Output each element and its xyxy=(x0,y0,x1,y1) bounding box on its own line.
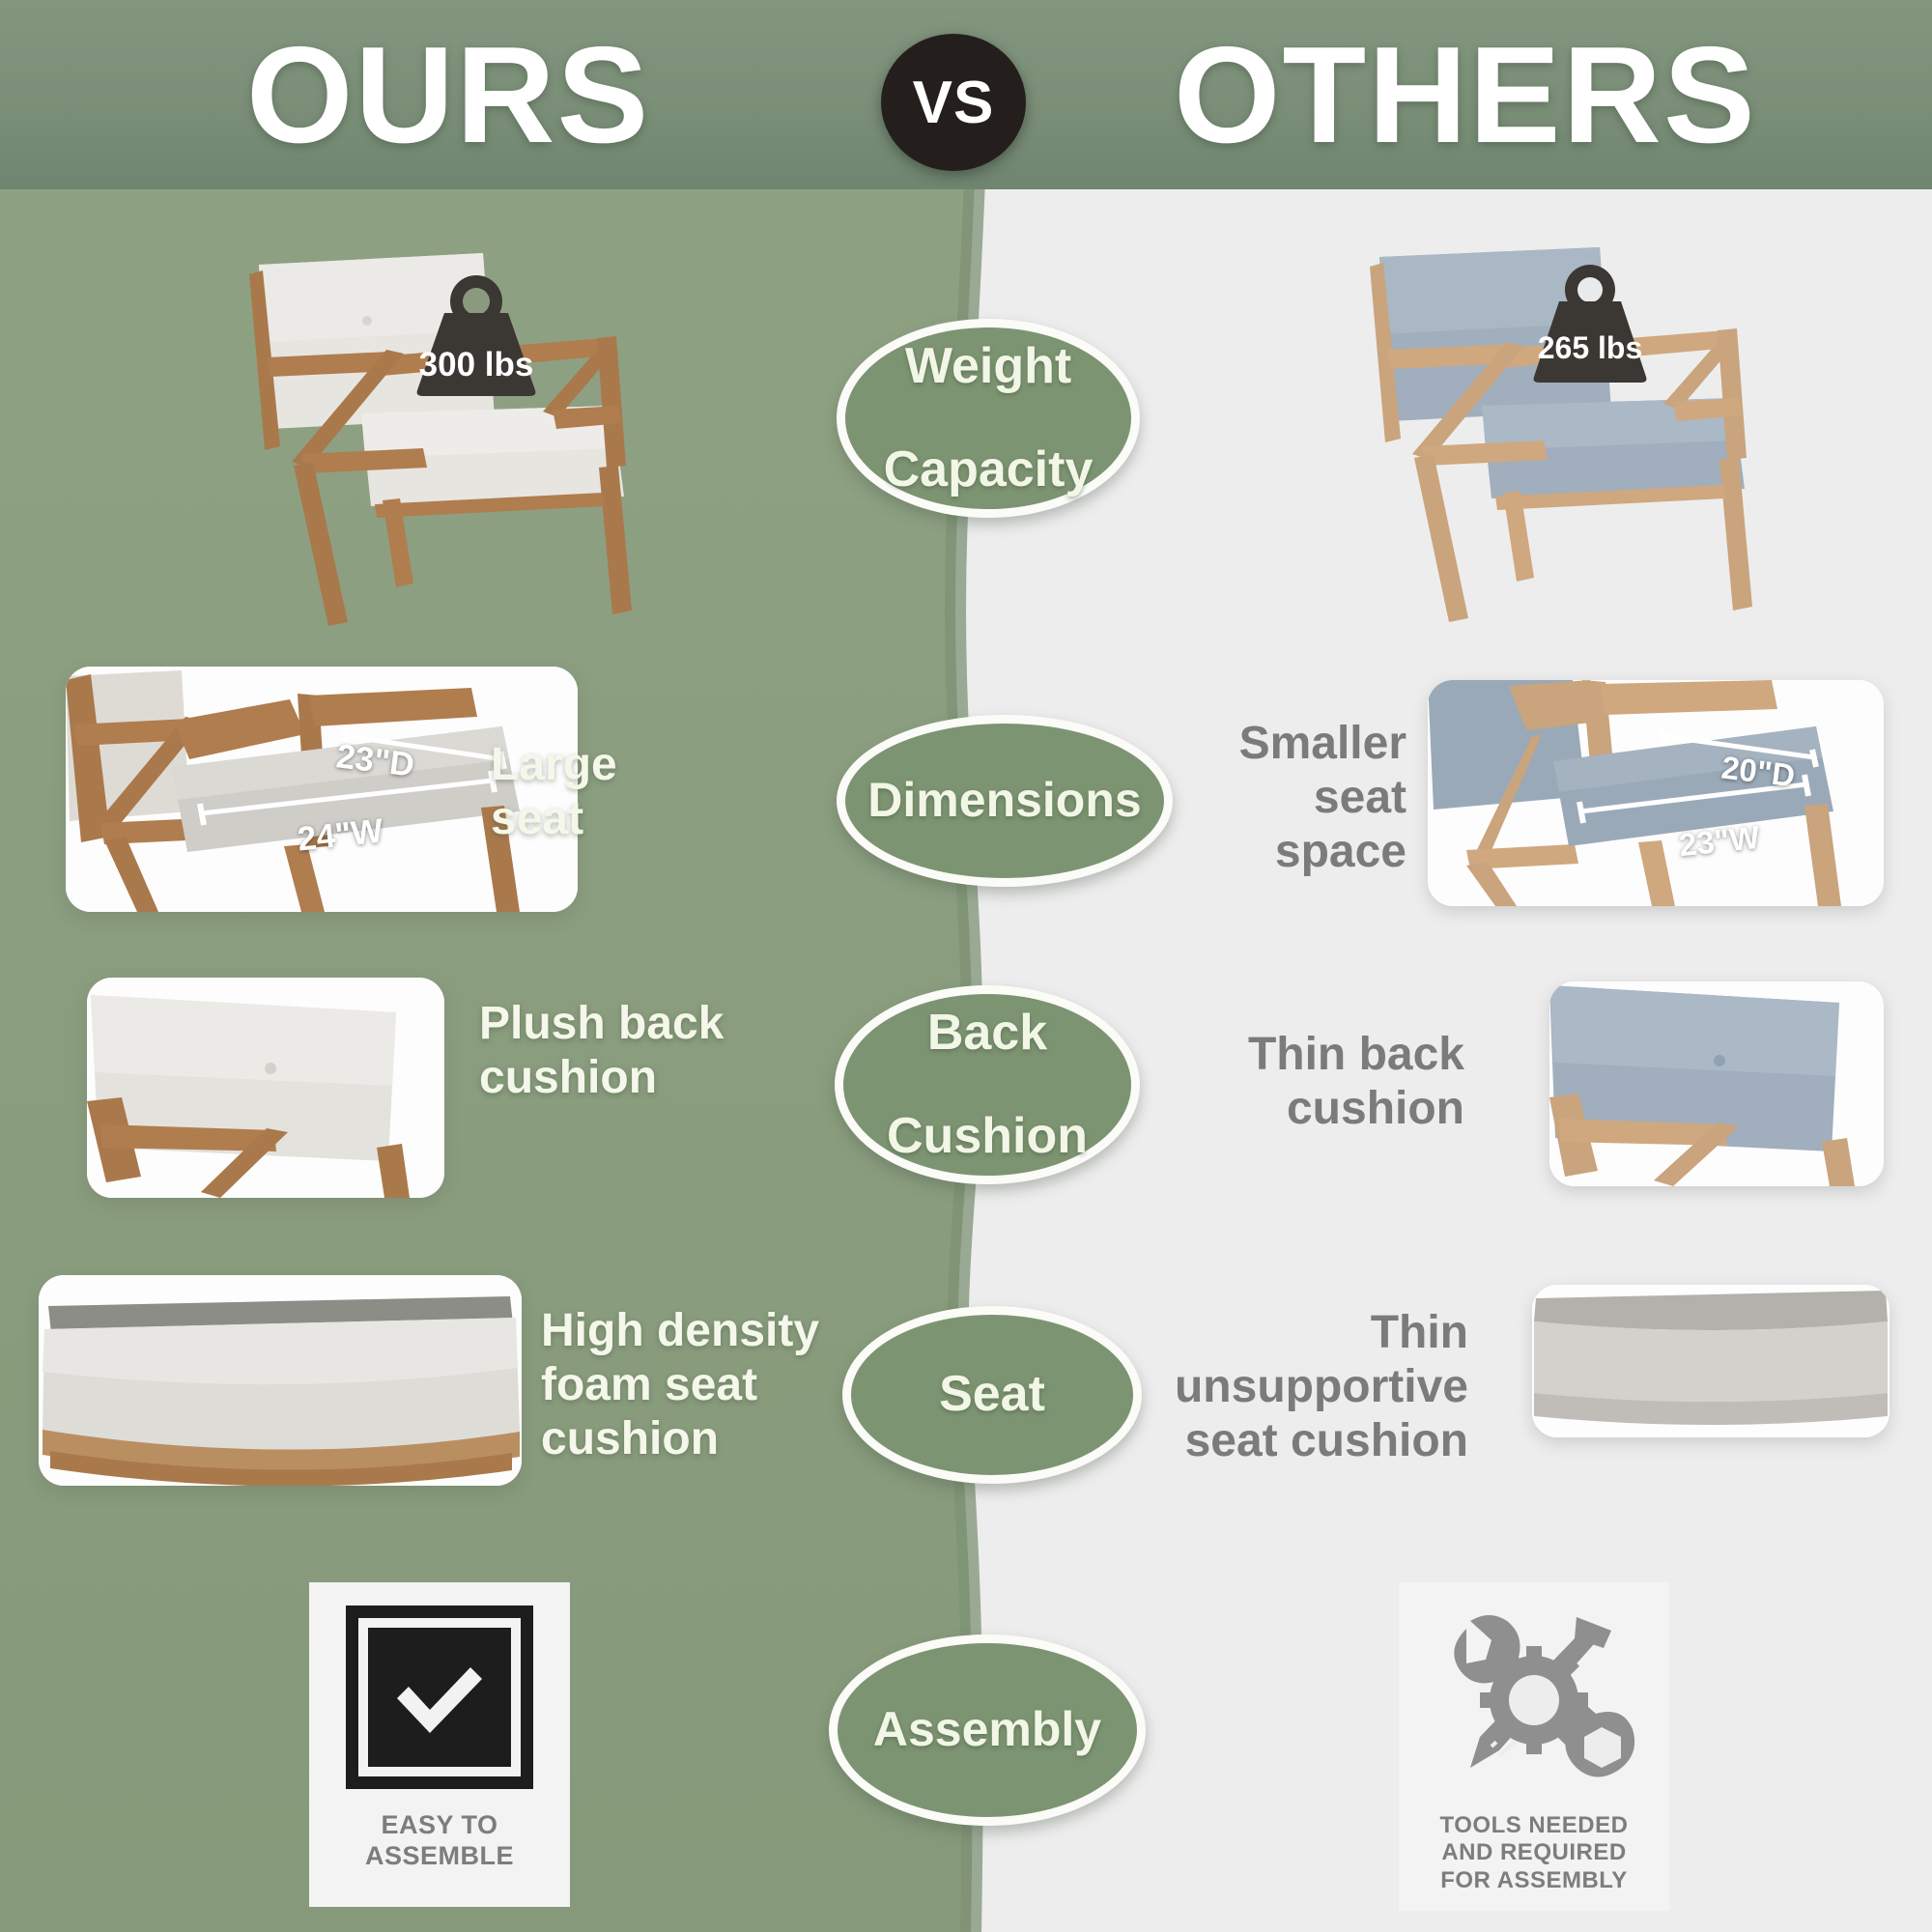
ours-seat-image xyxy=(39,1275,522,1486)
ours-weight-tag: 300 lbs xyxy=(384,272,568,398)
others-weight-value: 265 lbs xyxy=(1503,330,1677,366)
ours-back-cushion-caption: Plush back cushion xyxy=(479,997,798,1105)
badge-weight-capacity[interactable]: WeightCapacity xyxy=(837,319,1140,518)
badge-back-cushion-label: BackCushion xyxy=(887,1008,1088,1163)
weight-icon xyxy=(1503,263,1677,384)
tools-icon xyxy=(1432,1604,1636,1797)
ours-weight-value: 300 lbs xyxy=(384,346,568,384)
checkmark-box-icon xyxy=(346,1605,533,1789)
badge-seat[interactable]: Seat xyxy=(842,1306,1142,1484)
ours-dimensions-caption: Large seat xyxy=(491,738,771,846)
others-assembly-tile: TOOLS NEEDED AND REQUIRED FOR ASSEMBLY xyxy=(1399,1582,1669,1911)
others-back-cushion-caption: Thin back cushion xyxy=(1155,1028,1464,1136)
ours-seat-caption: High density foam seat cushion xyxy=(541,1304,860,1466)
vs-badge: VS xyxy=(881,34,1026,171)
vs-label: VS xyxy=(913,69,995,137)
header-bar: OURS VS OTHERS xyxy=(0,0,1932,189)
ours-back-cushion-image xyxy=(87,978,444,1198)
others-dimensions-caption: Smaller seat space xyxy=(1155,717,1406,879)
badge-back-cushion[interactable]: BackCushion xyxy=(835,985,1140,1184)
others-weight-tag: 265 lbs xyxy=(1503,263,1677,384)
others-back-cushion-image xyxy=(1549,981,1884,1186)
ours-assembly-caption: EASY TO ASSEMBLE xyxy=(365,1810,514,1872)
badge-assembly[interactable]: Assembly xyxy=(829,1634,1146,1826)
ours-assembly-tile: EASY TO ASSEMBLE xyxy=(309,1582,570,1907)
others-dimensions-image xyxy=(1428,680,1884,906)
header-ours-title: OURS xyxy=(246,23,650,168)
others-seat-image xyxy=(1532,1285,1889,1437)
badge-seat-label: Seat xyxy=(939,1369,1045,1421)
badge-dimensions[interactable]: Dimensions xyxy=(837,715,1173,887)
infographic-page: OURS VS OTHERS xyxy=(0,0,1932,1932)
badge-assembly-label: Assembly xyxy=(873,1705,1101,1755)
header-others-title: OTHERS xyxy=(1174,23,1757,168)
others-assembly-caption: TOOLS NEEDED AND REQUIRED FOR ASSEMBLY xyxy=(1440,1812,1629,1894)
others-seat-caption: Thin unsupportive seat cushion xyxy=(1140,1306,1468,1468)
badge-dimensions-label: Dimensions xyxy=(867,776,1141,826)
badge-weight-capacity-label: WeightCapacity xyxy=(884,341,1094,497)
